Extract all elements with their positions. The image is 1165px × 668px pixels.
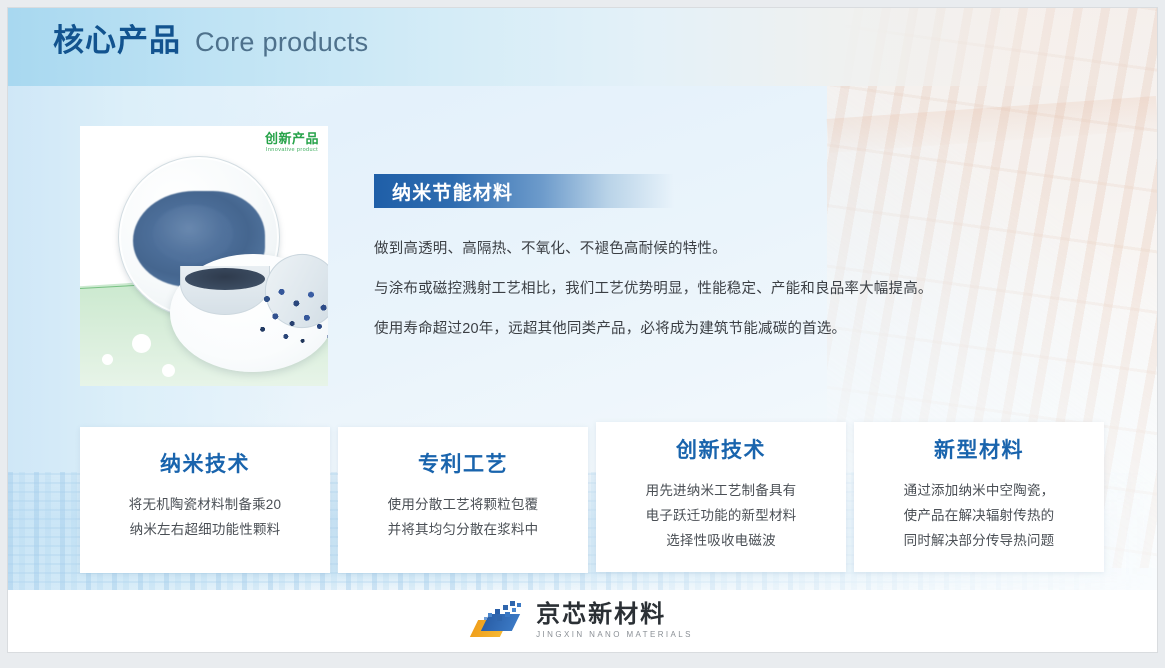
feature-card-title: 新型材料 (854, 440, 1104, 461)
feature-card-innovative-technology[interactable]: 创新技术 用先进纳米工艺制备具有 电子跃迁功能的新型材料 选择性吸收电磁波 (596, 422, 846, 572)
page-title-en: Core products (195, 29, 368, 56)
feature-banner-title: 纳米节能材料 (392, 178, 513, 205)
feature-card-line: 选择性吸收电磁波 (596, 528, 846, 553)
feature-card-line: 并将其均匀分散在浆料中 (338, 517, 588, 542)
logo-pixel-dots (484, 601, 528, 621)
decorative-dot (132, 334, 151, 353)
page-header: 核心产品 Core products (8, 8, 1157, 86)
page-footer: 京芯新材料 JINGXIN NANO MATERIALS (8, 590, 1157, 652)
page-title: 核心产品 Core products (53, 25, 368, 56)
feature-card-title: 纳米技术 (80, 454, 330, 475)
feature-card-patented-process[interactable]: 专利工艺 使用分散工艺将颗粒包覆 并将其均匀分散在浆料中 (338, 427, 588, 573)
company-name-en: JINGXIN NANO MATERIALS (536, 631, 693, 639)
photo-label-en: Innovative product (265, 148, 319, 154)
blue-pellets (248, 276, 328, 348)
feature-banner: 纳米节能材料 (374, 174, 674, 208)
feature-card-line: 用先进纳米工艺制备具有 (596, 478, 846, 503)
blue-powder-highlight (153, 205, 233, 263)
feature-card-line: 使产品在解决辐射传热的 (854, 503, 1104, 528)
feature-card-line: 同时解决部分传导热问题 (854, 528, 1104, 553)
feature-card-body: 通过添加纳米中空陶瓷， 使产品在解决辐射传热的 同时解决部分传导热问题 (854, 478, 1104, 553)
feature-card-list: 纳米技术 将无机陶瓷材料制备乘20 纳米左右超细功能性颗料 专利工艺 使用分散工… (80, 418, 1110, 568)
feature-card-line: 通过添加纳米中空陶瓷， (854, 478, 1104, 503)
feature-card-nano-technology[interactable]: 纳米技术 将无机陶瓷材料制备乘20 纳米左右超细功能性颗料 (80, 427, 330, 573)
feature-paragraph: 使用寿命超过20年，远超其他同类产品，必将成为建筑节能减碳的首选。 (374, 322, 846, 337)
feature-card-line: 纳米左右超细功能性颗料 (80, 517, 330, 542)
product-photo: 创新产品 Innovative product (80, 126, 328, 386)
feature-card-line: 将无机陶瓷材料制备乘20 (80, 492, 330, 517)
feature-card-line: 使用分散工艺将颗粒包覆 (338, 492, 588, 517)
feature-card-title: 创新技术 (596, 440, 846, 461)
photo-label: 创新产品 Innovative product (265, 132, 319, 154)
company-logo-icon (472, 601, 526, 641)
feature-card-body: 使用分散工艺将颗粒包覆 并将其均匀分散在浆料中 (338, 492, 588, 542)
photo-label-cn: 创新产品 (265, 132, 319, 145)
slide: 核心产品 Core products 创新产品 Innovative produ… (8, 8, 1157, 652)
company-name-cn: 京芯新材料 (536, 603, 693, 627)
feature-paragraph: 与涂布或磁控溅射工艺相比，我们工艺优势明显，性能稳定、产能和良品率大幅提高。 (374, 282, 933, 297)
feature-card-body: 将无机陶瓷材料制备乘20 纳米左右超细功能性颗料 (80, 492, 330, 542)
page-title-cn: 核心产品 (53, 25, 181, 56)
company-logo-text: 京芯新材料 JINGXIN NANO MATERIALS (536, 603, 693, 639)
feature-card-title: 专利工艺 (338, 454, 588, 475)
decorative-dot (162, 364, 175, 377)
feature-card-body: 用先进纳米工艺制备具有 电子跃迁功能的新型材料 选择性吸收电磁波 (596, 478, 846, 553)
feature-card-line: 电子跃迁功能的新型材料 (596, 503, 846, 528)
feature-card-new-material[interactable]: 新型材料 通过添加纳米中空陶瓷， 使产品在解决辐射传热的 同时解决部分传导热问题 (854, 422, 1104, 572)
feature-paragraph: 做到高透明、高隔热、不氧化、不褪色高耐候的特性。 (374, 242, 727, 257)
decorative-dot (102, 354, 113, 365)
